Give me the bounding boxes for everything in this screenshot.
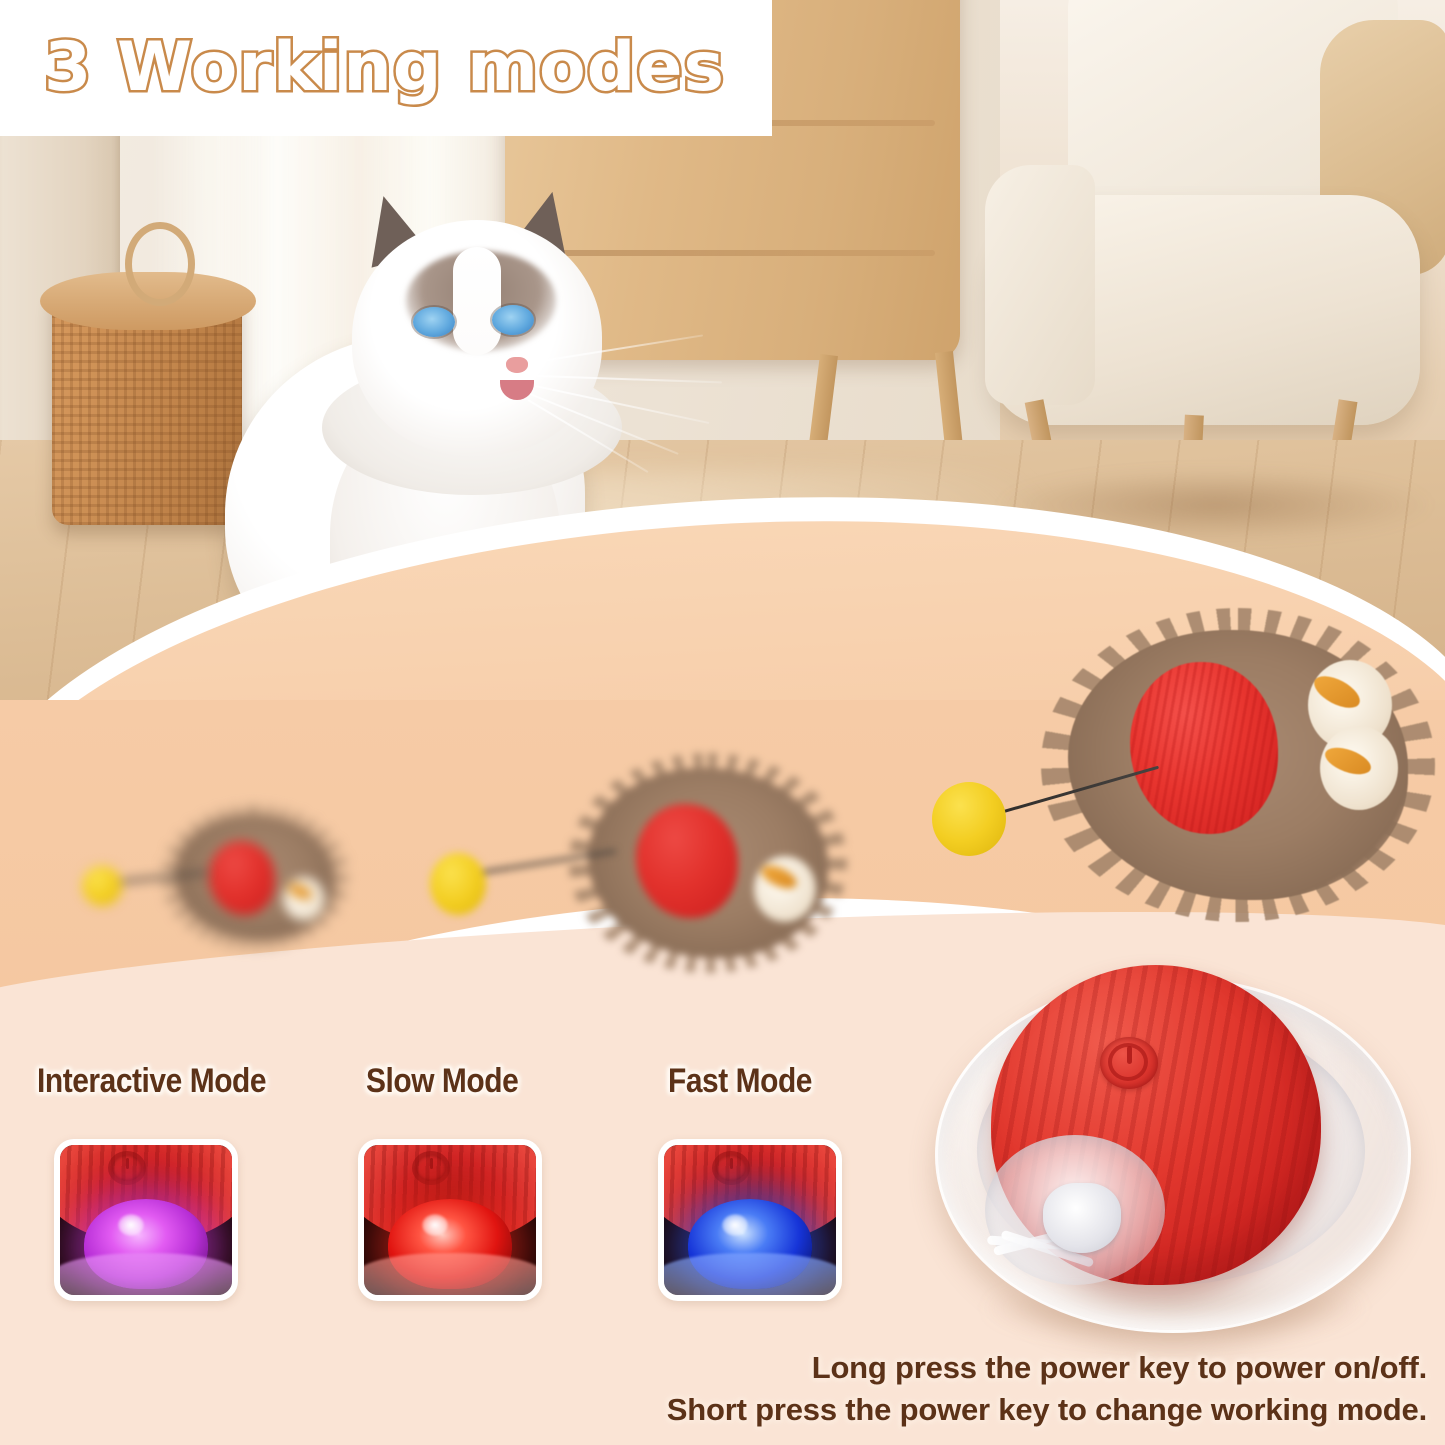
mode-thumbnail-fast[interactable]: [658, 1139, 842, 1301]
power-icon: [712, 1151, 750, 1185]
cat-eye: [413, 307, 455, 337]
toy-ball: [209, 841, 275, 915]
roller-hub: [1043, 1183, 1121, 1253]
product-marketing-image: Interactive Mode Slow Mode Fast Mode: [0, 0, 1445, 1445]
clear-base: [60, 1253, 232, 1295]
yellow-pompom: [82, 866, 122, 906]
basket-handle: [125, 222, 195, 306]
mode-thumbnail-interactive[interactable]: [54, 1139, 238, 1301]
cat-blaze: [453, 247, 501, 355]
power-icon-bar: [1127, 1046, 1132, 1064]
power-icon: [412, 1151, 450, 1185]
thumbnail-image: [60, 1145, 232, 1295]
page-title: 3 Working modes: [44, 28, 725, 107]
rolling-toy-mid: [588, 768, 828, 958]
toy-wire-mid: [434, 845, 624, 931]
yellow-pompom: [430, 853, 486, 915]
toy-wire-near: [932, 770, 1162, 870]
armchair-arm: [985, 165, 1095, 405]
thumbnail-image: [664, 1145, 836, 1295]
clear-base: [364, 1253, 536, 1295]
caption-line-1: Long press the power key to power on/off…: [812, 1350, 1427, 1386]
cat-eye: [492, 305, 534, 335]
mode-label-interactive: Interactive Mode: [37, 1062, 266, 1101]
mode-thumbnail-slow[interactable]: [358, 1139, 542, 1301]
thumbnail-image: [364, 1145, 536, 1295]
mode-label-slow: Slow Mode: [366, 1062, 518, 1101]
clear-base: [664, 1253, 836, 1295]
power-icon: [108, 1151, 146, 1185]
yellow-pompom: [932, 782, 1006, 856]
product-hero-image: [925, 955, 1425, 1355]
cat-nose: [506, 357, 528, 373]
caption-line-2: Short press the power key to change work…: [667, 1392, 1427, 1428]
mode-label-fast: Fast Mode: [668, 1062, 812, 1101]
toy-wire-far: [92, 862, 212, 922]
power-button[interactable]: [1100, 1037, 1158, 1089]
